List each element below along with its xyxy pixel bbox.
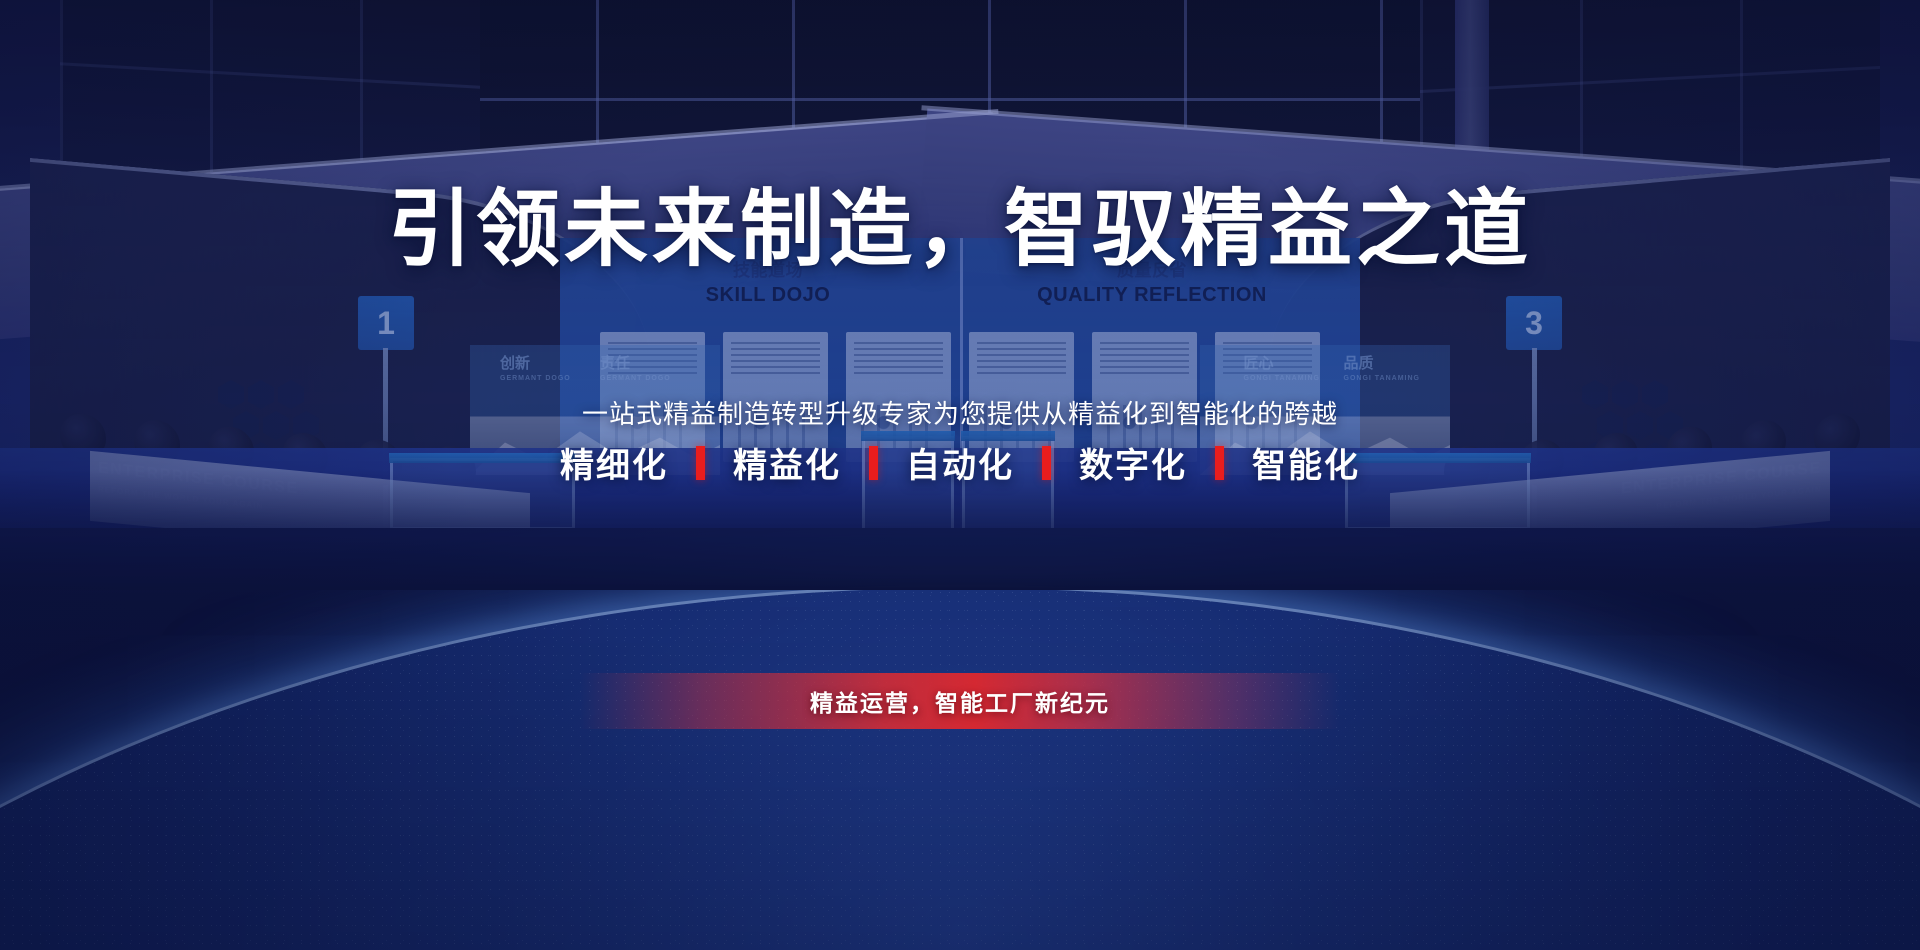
keyword-item-5: 智能化	[1234, 438, 1378, 487]
hero-content: 引领未来制造，智驭精益之道 一站式精益制造转型升级专家为您提供从精益化到智能化的…	[0, 0, 1920, 950]
hero-subheadline: 一站式精益制造转型升级专家为您提供从精益化到智能化的跨越	[0, 394, 1920, 431]
hero-headline: 引领未来制造，智驭精益之道	[0, 187, 1920, 271]
keyword-separator-icon	[1215, 446, 1224, 480]
keyword-item-4: 数字化	[1061, 438, 1205, 487]
keyword-item-1: 精细化	[542, 438, 686, 487]
keyword-separator-icon	[696, 446, 705, 480]
keyword-item-3: 自动化	[888, 438, 1032, 487]
hero-banner: 技能道场 SKILL DOJO 质量反省 QUALITY REFLECTION …	[0, 0, 1920, 950]
keyword-item-2: 精益化	[715, 438, 859, 487]
hero-keyword-row: 精细化 精益化 自动化 数字化 智能化	[0, 438, 1920, 487]
hero-ribbon-text: 精益运营，智能工厂新纪元	[810, 684, 1110, 718]
hero-ribbon-banner: 精益运营，智能工厂新纪元	[580, 673, 1340, 729]
keyword-separator-icon	[869, 446, 878, 480]
keyword-separator-icon	[1042, 446, 1051, 480]
